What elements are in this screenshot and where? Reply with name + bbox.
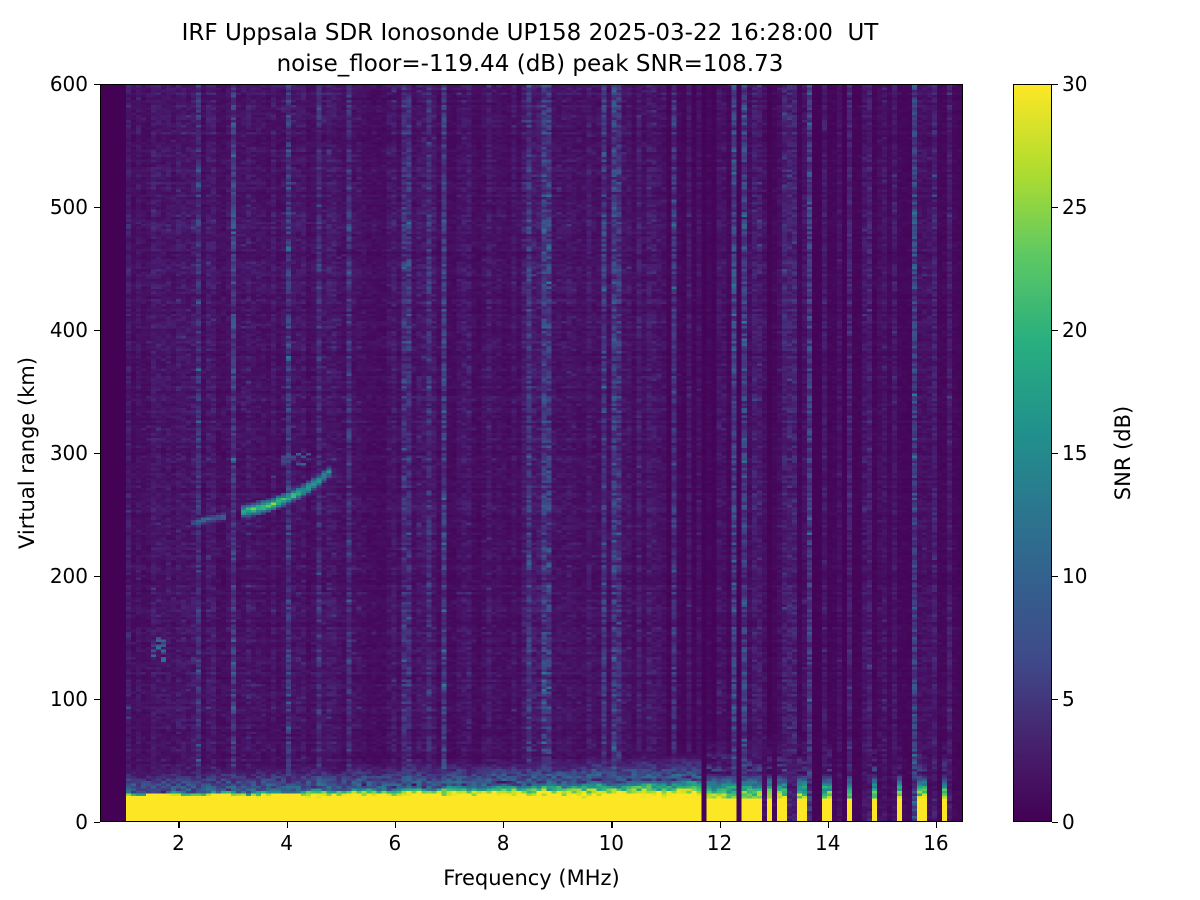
colorbar-tick-label: 5: [1062, 687, 1075, 711]
y-tick-mark: [94, 330, 100, 331]
x-tick-mark: [395, 822, 396, 828]
y-axis-label-text: Virtual range (km): [15, 357, 39, 549]
heatmap-canvas: [101, 85, 962, 821]
colorbar-tick-mark: [1052, 84, 1058, 85]
x-tick-mark: [287, 822, 288, 828]
y-tick-mark: [94, 84, 100, 85]
x-tick-label: 2: [172, 831, 185, 855]
figure-title: IRF Uppsala SDR Ionosonde UP158 2025-03-…: [0, 18, 1060, 80]
title-line-1: IRF Uppsala SDR Ionosonde UP158 2025-03-…: [0, 18, 1060, 49]
x-tick-label: 16: [923, 831, 948, 855]
ionogram-axes: [100, 84, 963, 822]
colorbar-tick-label: 0: [1062, 810, 1075, 834]
ionogram-figure: IRF Uppsala SDR Ionosonde UP158 2025-03-…: [0, 0, 1200, 900]
colorbar-tick-mark: [1052, 822, 1058, 823]
y-tick-label: 200: [50, 564, 88, 588]
colorbar-tick-label: 10: [1062, 564, 1087, 588]
x-tick-mark: [178, 822, 179, 828]
ionogram-heatmap: [101, 85, 962, 821]
colorbar-tick-label: 20: [1062, 318, 1087, 342]
x-tick-label: 8: [497, 831, 510, 855]
colorbar-tick-mark: [1052, 207, 1058, 208]
y-tick-label: 400: [50, 318, 88, 342]
y-tick-label: 0: [75, 810, 88, 834]
y-tick-mark: [94, 576, 100, 577]
colorbar-label: SNR (dB): [1110, 84, 1136, 822]
x-tick-label: 4: [280, 831, 293, 855]
x-tick-mark: [936, 822, 937, 828]
y-tick-label: 500: [50, 195, 88, 219]
colorbar-tick-label: 15: [1062, 441, 1087, 465]
colorbar: [1013, 84, 1052, 822]
y-tick-mark: [94, 699, 100, 700]
colorbar-label-text: SNR (dB): [1111, 406, 1135, 500]
x-tick-mark: [720, 822, 721, 828]
colorbar-tick-mark: [1052, 699, 1058, 700]
colorbar-tick-label: 30: [1062, 72, 1087, 96]
x-tick-mark: [828, 822, 829, 828]
y-tick-label: 100: [50, 687, 88, 711]
x-tick-label: 10: [599, 831, 624, 855]
y-axis-label: Virtual range (km): [14, 84, 40, 822]
colorbar-tick-mark: [1052, 576, 1058, 577]
x-tick-mark: [503, 822, 504, 828]
y-tick-mark: [94, 822, 100, 823]
x-tick-label: 12: [707, 831, 732, 855]
title-line-2: noise_floor=-119.44 (dB) peak SNR=108.73: [0, 49, 1060, 80]
y-tick-mark: [94, 207, 100, 208]
x-tick-mark: [611, 822, 612, 828]
y-tick-label: 300: [50, 441, 88, 465]
colorbar-tick-mark: [1052, 453, 1058, 454]
colorbar-tick-label: 25: [1062, 195, 1087, 219]
x-axis-label: Frequency (MHz): [100, 866, 963, 890]
x-tick-label: 6: [389, 831, 402, 855]
colorbar-tick-mark: [1052, 330, 1058, 331]
y-tick-label: 600: [50, 72, 88, 96]
y-tick-mark: [94, 453, 100, 454]
x-tick-label: 14: [815, 831, 840, 855]
